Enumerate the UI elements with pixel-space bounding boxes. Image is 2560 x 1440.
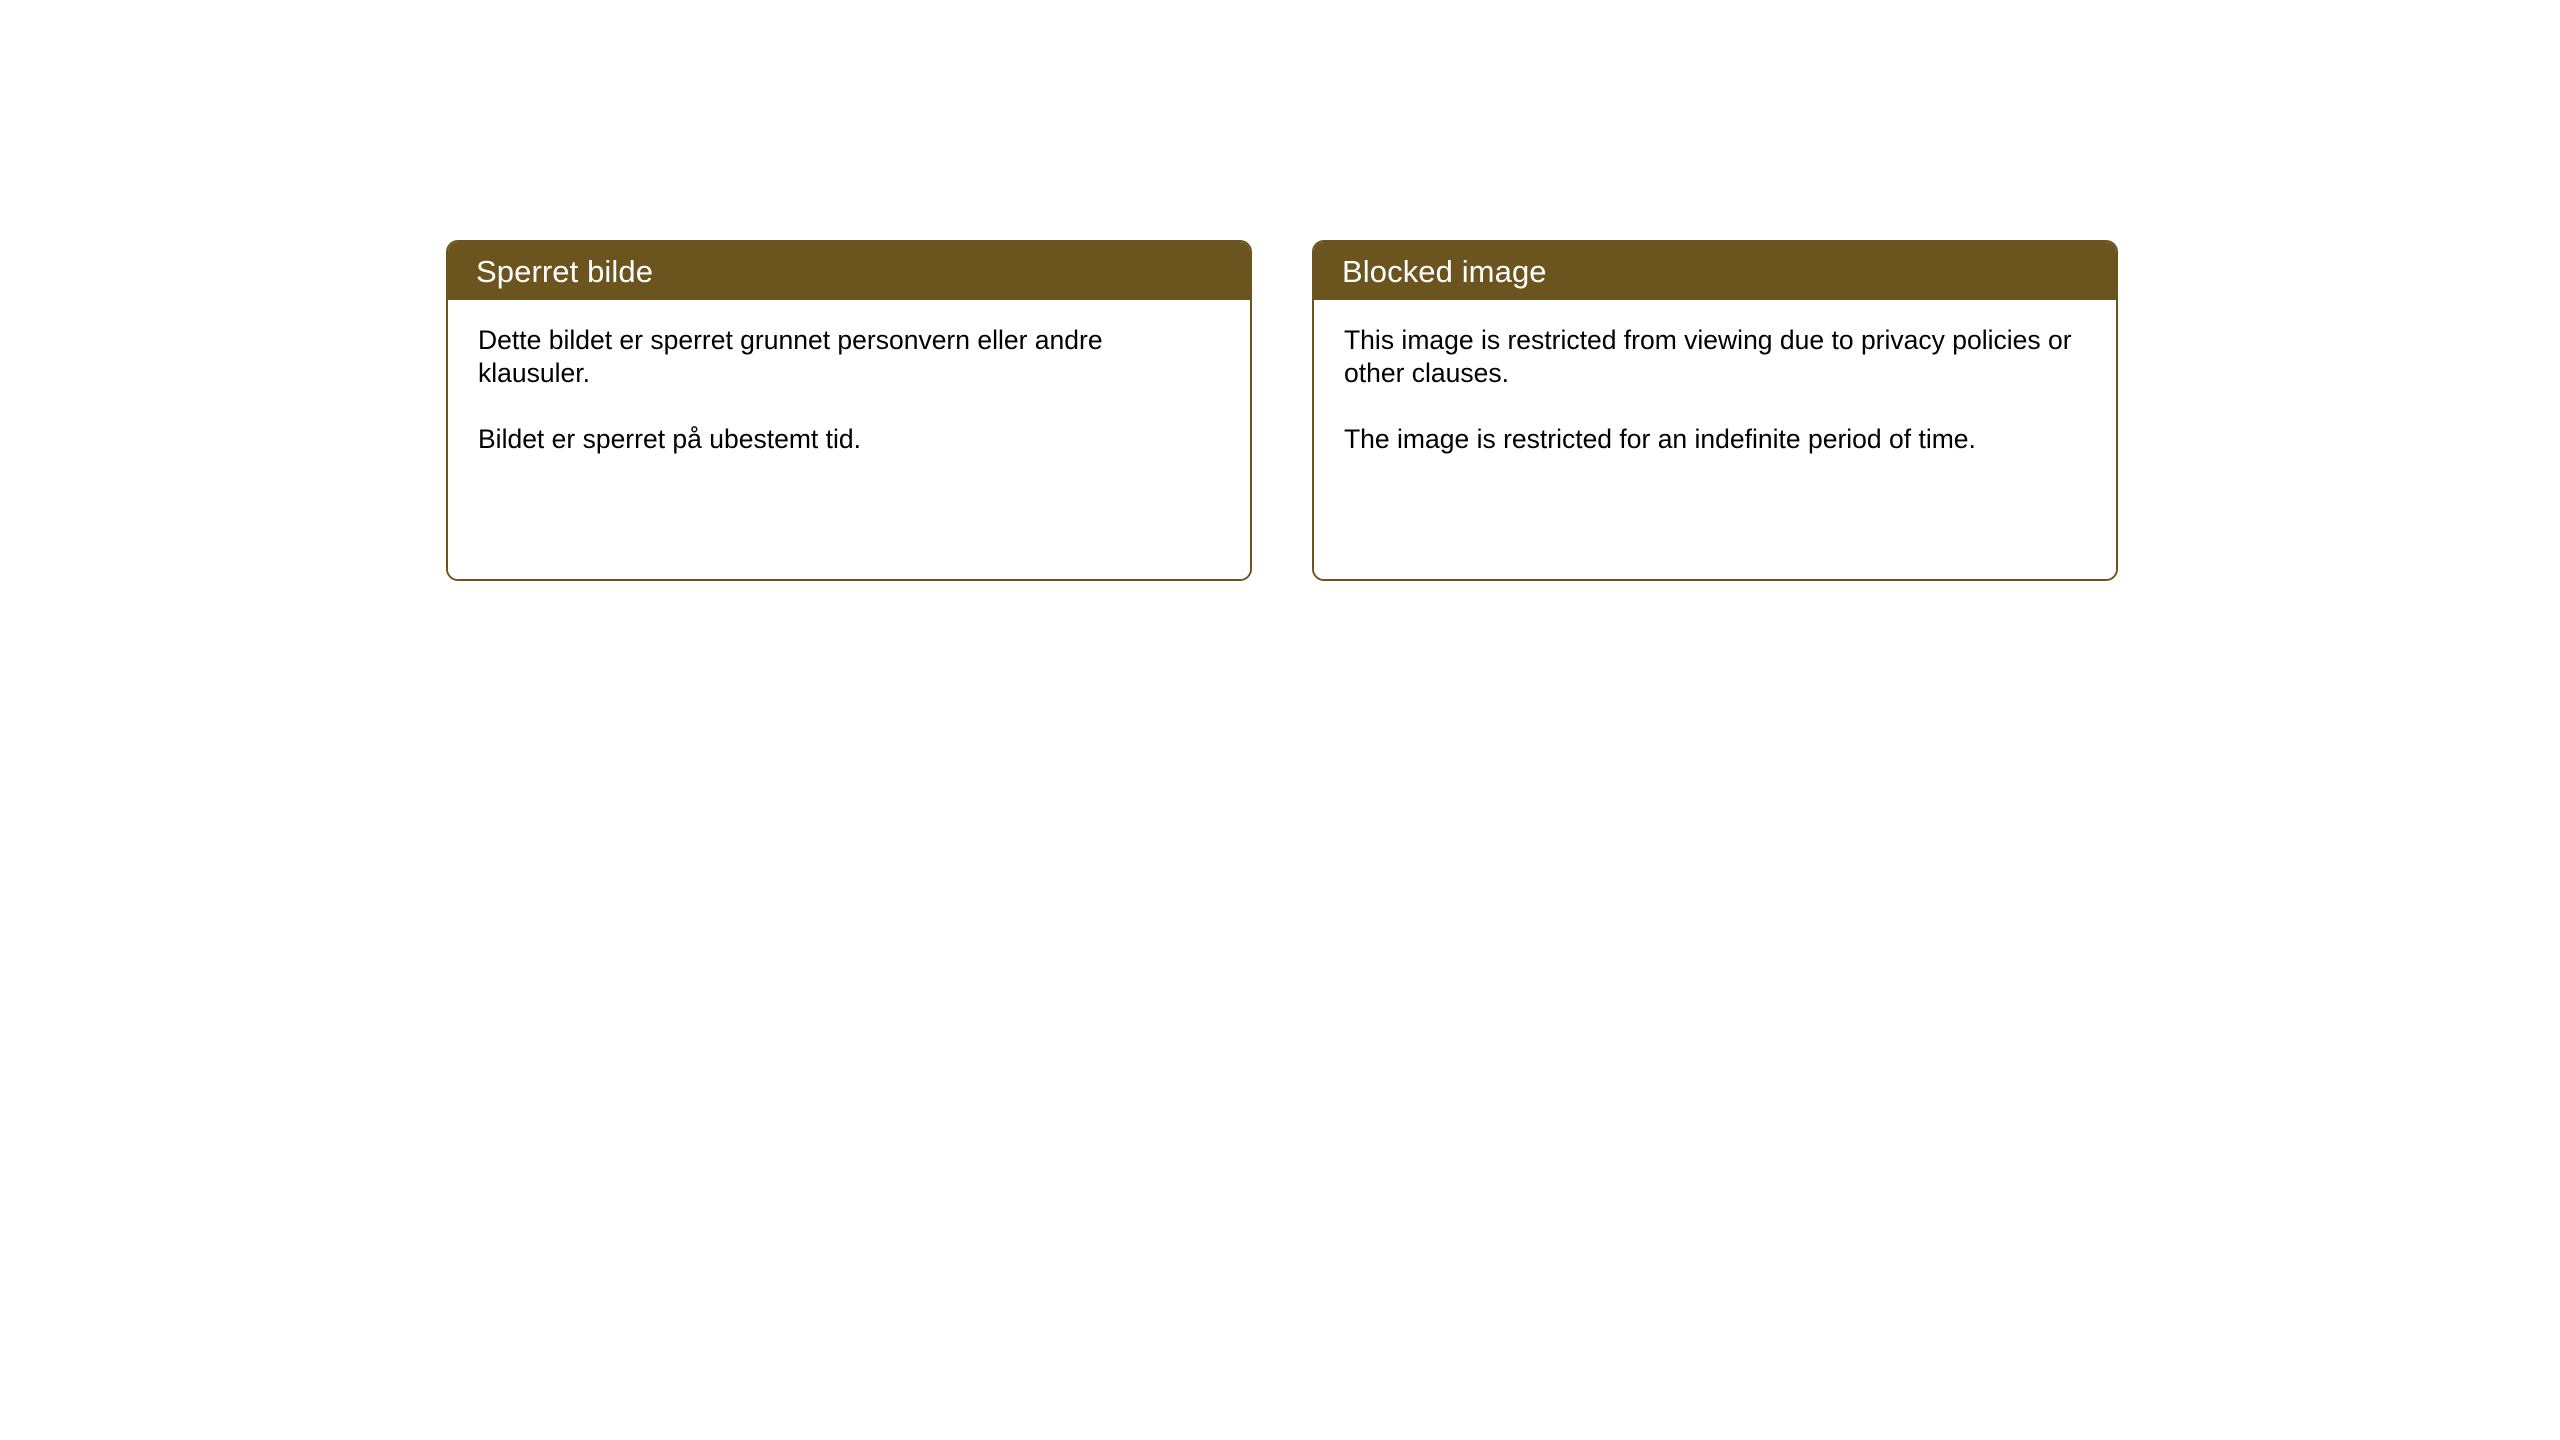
card-paragraph-duration-norwegian: Bildet er sperret på ubestemt tid. bbox=[478, 423, 1218, 456]
blocked-image-notice-area: Sperret bilde Dette bildet er sperret gr… bbox=[446, 240, 2118, 581]
card-title-norwegian: Sperret bilde bbox=[476, 256, 653, 287]
card-paragraph-reason-norwegian: Dette bildet er sperret grunnet personve… bbox=[478, 324, 1218, 390]
card-body-norwegian: Dette bildet er sperret grunnet personve… bbox=[448, 300, 1250, 579]
card-title-english: Blocked image bbox=[1342, 256, 1547, 287]
card-paragraph-duration-english: The image is restricted for an indefinit… bbox=[1344, 423, 2084, 456]
card-header-english: Blocked image bbox=[1314, 242, 2116, 300]
card-body-english: This image is restricted from viewing du… bbox=[1314, 300, 2116, 579]
blocked-image-card-english: Blocked image This image is restricted f… bbox=[1312, 240, 2118, 581]
card-paragraph-reason-english: This image is restricted from viewing du… bbox=[1344, 324, 2084, 390]
blocked-image-card-norwegian: Sperret bilde Dette bildet er sperret gr… bbox=[446, 240, 1252, 581]
card-header-norwegian: Sperret bilde bbox=[448, 242, 1250, 300]
